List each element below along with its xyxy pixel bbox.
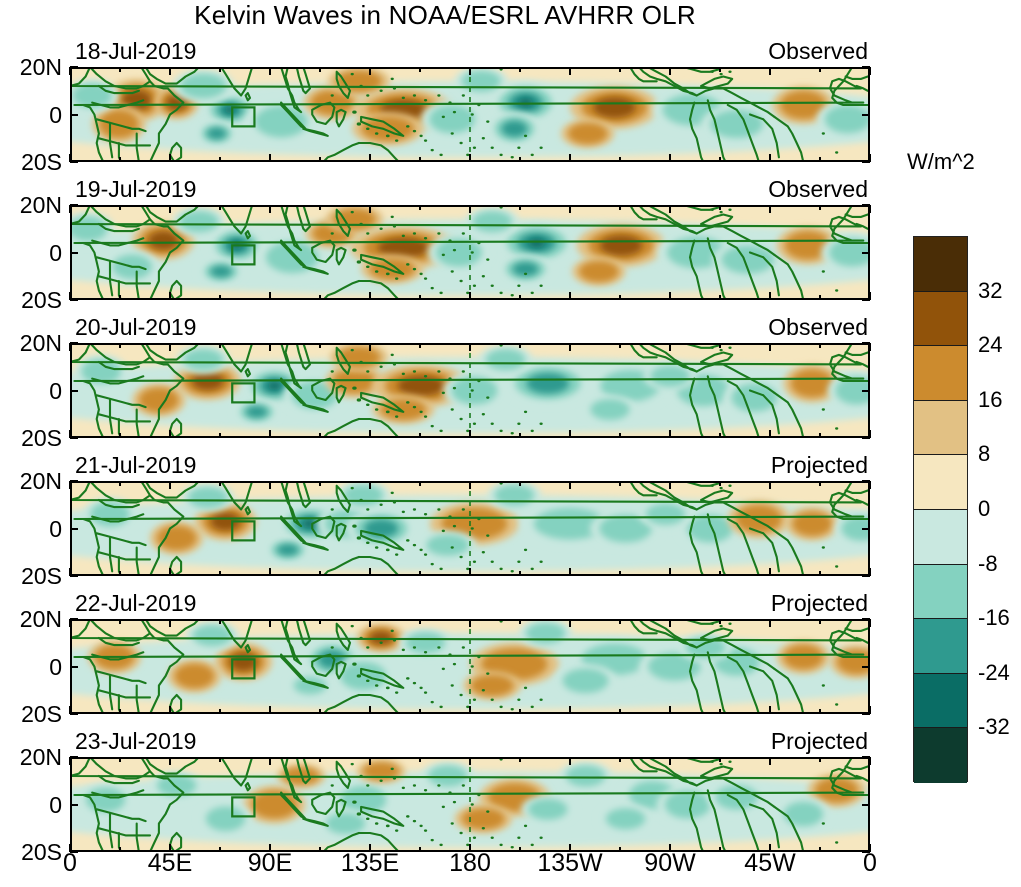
axis-tick bbox=[469, 481, 471, 489]
axis-tick bbox=[319, 343, 321, 348]
axis-tick bbox=[169, 481, 171, 489]
axis-tick bbox=[419, 157, 421, 162]
axis-tick bbox=[669, 481, 671, 489]
axis-tick bbox=[619, 433, 621, 438]
axis-tick bbox=[219, 295, 221, 300]
axis-tick bbox=[869, 343, 871, 351]
axis-tick bbox=[469, 619, 471, 627]
axis-tick bbox=[269, 292, 271, 300]
y-axis-tick-label: 20S bbox=[0, 427, 62, 450]
axis-tick bbox=[869, 205, 871, 213]
axis-tick bbox=[862, 161, 870, 163]
axis-tick bbox=[469, 706, 471, 714]
axis-tick bbox=[119, 757, 121, 762]
axis-tick bbox=[269, 343, 271, 351]
axis-tick bbox=[519, 433, 521, 438]
colorbar-tick-label: 32 bbox=[978, 280, 1002, 302]
axis-tick bbox=[469, 757, 471, 765]
axis-tick bbox=[862, 618, 870, 620]
axis-tick bbox=[419, 847, 421, 852]
map-panel-6 bbox=[70, 757, 870, 852]
axis-tick bbox=[819, 67, 821, 72]
y-axis-tick-label: 20S bbox=[0, 703, 62, 726]
axis-tick bbox=[419, 295, 421, 300]
colorbar-tick-label: 0 bbox=[978, 498, 990, 520]
axis-tick bbox=[319, 157, 321, 162]
axis-tick bbox=[769, 67, 771, 75]
axis-tick bbox=[70, 252, 78, 254]
axis-tick bbox=[70, 618, 78, 620]
axis-tick bbox=[669, 430, 671, 438]
axis-tick bbox=[319, 847, 321, 852]
axis-tick bbox=[669, 343, 671, 351]
axis-tick bbox=[269, 706, 271, 714]
colorbar-tick-label: 24 bbox=[978, 334, 1002, 356]
axis-tick bbox=[869, 67, 871, 75]
x-axis-tick-label: 45W bbox=[744, 851, 795, 876]
axis-tick bbox=[169, 757, 171, 765]
axis-tick bbox=[319, 709, 321, 714]
axis-tick bbox=[419, 709, 421, 714]
colorbar-tick-label: -24 bbox=[978, 662, 1010, 684]
axis-tick bbox=[469, 343, 471, 351]
axis-tick bbox=[70, 480, 78, 482]
axis-tick bbox=[519, 757, 521, 762]
axis-tick bbox=[219, 433, 221, 438]
axis-tick bbox=[269, 757, 271, 765]
axis-tick bbox=[70, 342, 78, 344]
map-panel-3 bbox=[70, 343, 870, 438]
x-axis-tick-label: 0 bbox=[63, 851, 77, 876]
x-axis-tick-label: 45E bbox=[148, 851, 192, 876]
axis-tick bbox=[119, 619, 121, 624]
axis-tick bbox=[569, 481, 571, 489]
axis-tick bbox=[119, 709, 121, 714]
axis-tick bbox=[862, 252, 870, 254]
axis-tick bbox=[669, 67, 671, 75]
x-axis-tick-label: 135E bbox=[341, 851, 399, 876]
axis-tick bbox=[69, 619, 71, 627]
colorbar-band bbox=[914, 455, 967, 510]
axis-tick bbox=[369, 205, 371, 213]
axis-tick bbox=[862, 804, 870, 806]
axis-tick bbox=[419, 67, 421, 72]
panel-status-label: Observed bbox=[0, 178, 868, 201]
y-axis-tick-label: 20S bbox=[0, 289, 62, 312]
axis-tick bbox=[469, 205, 471, 213]
colorbar-tick-label: -8 bbox=[978, 553, 998, 575]
axis-tick bbox=[419, 205, 421, 210]
axis-tick bbox=[769, 205, 771, 213]
axis-tick bbox=[119, 571, 121, 576]
axis-tick bbox=[469, 67, 471, 75]
axis-tick bbox=[219, 571, 221, 576]
axis-tick bbox=[819, 481, 821, 486]
axis-tick bbox=[569, 154, 571, 162]
axis-tick bbox=[269, 154, 271, 162]
colorbar-band bbox=[914, 674, 967, 729]
axis-tick bbox=[69, 757, 71, 765]
axis-tick bbox=[319, 757, 321, 762]
panel-status-label: Projected bbox=[0, 592, 868, 615]
axis-tick bbox=[519, 847, 521, 852]
axis-tick bbox=[69, 481, 71, 489]
y-axis-tick-label: 0 bbox=[0, 794, 62, 817]
axis-tick bbox=[369, 343, 371, 351]
axis-tick bbox=[469, 292, 471, 300]
axis-tick bbox=[669, 154, 671, 162]
panel-frame bbox=[70, 205, 870, 300]
figure-root: Kelvin Waves in NOAA/ESRL AVHRR OLR 20N0… bbox=[0, 0, 1021, 887]
axis-tick bbox=[719, 295, 721, 300]
colorbar-band bbox=[914, 565, 967, 620]
axis-tick bbox=[469, 430, 471, 438]
axis-tick bbox=[369, 619, 371, 627]
axis-tick bbox=[169, 154, 171, 162]
map-panel-1 bbox=[70, 67, 870, 162]
axis-tick bbox=[70, 204, 78, 206]
y-axis-tick-label: 20S bbox=[0, 151, 62, 174]
axis-tick bbox=[369, 430, 371, 438]
axis-tick bbox=[219, 709, 221, 714]
axis-tick bbox=[70, 390, 78, 392]
axis-tick bbox=[819, 757, 821, 762]
y-axis-tick-label: 0 bbox=[0, 104, 62, 127]
axis-tick bbox=[619, 571, 621, 576]
axis-tick bbox=[369, 706, 371, 714]
colorbar-tick-label: 16 bbox=[978, 389, 1002, 411]
axis-tick bbox=[369, 292, 371, 300]
colorbar-band bbox=[914, 401, 967, 456]
axis-tick bbox=[169, 568, 171, 576]
axis-tick bbox=[619, 157, 621, 162]
axis-tick bbox=[319, 433, 321, 438]
axis-tick bbox=[319, 619, 321, 624]
axis-tick bbox=[269, 568, 271, 576]
axis-tick bbox=[619, 343, 621, 348]
panel-status-label: Projected bbox=[0, 730, 868, 753]
axis-tick bbox=[269, 205, 271, 213]
axis-tick bbox=[119, 205, 121, 210]
axis-tick bbox=[269, 619, 271, 627]
axis-tick bbox=[619, 67, 621, 72]
axis-tick bbox=[70, 161, 78, 163]
axis-tick bbox=[169, 67, 171, 75]
axis-tick bbox=[719, 343, 721, 348]
axis-tick bbox=[669, 205, 671, 213]
colorbar bbox=[913, 236, 968, 782]
colorbar-band bbox=[914, 510, 967, 565]
panel-frame bbox=[70, 481, 870, 576]
axis-tick bbox=[569, 430, 571, 438]
axis-tick bbox=[519, 571, 521, 576]
axis-tick bbox=[669, 757, 671, 765]
panel-frame bbox=[70, 757, 870, 852]
axis-tick bbox=[769, 619, 771, 627]
axis-tick bbox=[819, 847, 821, 852]
axis-tick bbox=[369, 568, 371, 576]
axis-tick bbox=[219, 67, 221, 72]
axis-tick bbox=[862, 342, 870, 344]
axis-tick bbox=[469, 568, 471, 576]
axis-tick bbox=[119, 433, 121, 438]
axis-tick bbox=[619, 757, 621, 762]
axis-tick bbox=[169, 619, 171, 627]
axis-tick bbox=[369, 67, 371, 75]
axis-tick bbox=[719, 157, 721, 162]
axis-tick bbox=[669, 619, 671, 627]
axis-tick bbox=[70, 114, 78, 116]
axis-tick bbox=[862, 756, 870, 758]
axis-tick bbox=[862, 575, 870, 577]
colorbar-tick-label: -32 bbox=[978, 716, 1010, 738]
axis-tick bbox=[519, 67, 521, 72]
y-axis-tick-label: 0 bbox=[0, 656, 62, 679]
x-axis-tick-label: 0 bbox=[863, 851, 877, 876]
axis-tick bbox=[69, 205, 71, 213]
axis-tick bbox=[169, 292, 171, 300]
axis-tick bbox=[419, 433, 421, 438]
axis-tick bbox=[319, 481, 321, 486]
axis-tick bbox=[769, 481, 771, 489]
axis-tick bbox=[569, 757, 571, 765]
axis-tick bbox=[519, 343, 521, 348]
axis-tick bbox=[862, 713, 870, 715]
axis-tick bbox=[419, 481, 421, 486]
panel-status-label: Projected bbox=[0, 454, 868, 477]
panel-frame bbox=[70, 343, 870, 438]
axis-tick bbox=[219, 343, 221, 348]
axis-tick bbox=[869, 757, 871, 765]
axis-tick bbox=[269, 67, 271, 75]
axis-tick bbox=[769, 292, 771, 300]
axis-tick bbox=[719, 757, 721, 762]
axis-tick bbox=[169, 205, 171, 213]
axis-tick bbox=[70, 713, 78, 715]
axis-tick bbox=[719, 433, 721, 438]
axis-tick bbox=[119, 157, 121, 162]
axis-tick bbox=[369, 757, 371, 765]
axis-tick bbox=[319, 571, 321, 576]
page-title: Kelvin Waves in NOAA/ESRL AVHRR OLR bbox=[0, 0, 890, 31]
axis-tick bbox=[719, 481, 721, 486]
axis-tick bbox=[319, 295, 321, 300]
axis-tick bbox=[669, 706, 671, 714]
axis-tick bbox=[119, 481, 121, 486]
axis-tick bbox=[862, 390, 870, 392]
axis-tick bbox=[819, 433, 821, 438]
axis-tick bbox=[70, 299, 78, 301]
panel-frame bbox=[70, 67, 870, 162]
axis-tick bbox=[862, 528, 870, 530]
axis-tick bbox=[70, 575, 78, 577]
axis-tick bbox=[469, 154, 471, 162]
axis-tick bbox=[769, 343, 771, 351]
panel-status-label: Observed bbox=[0, 40, 868, 63]
axis-tick bbox=[569, 706, 571, 714]
axis-tick bbox=[369, 154, 371, 162]
colorbar-band bbox=[914, 728, 967, 783]
axis-tick bbox=[219, 757, 221, 762]
axis-tick bbox=[119, 847, 121, 852]
axis-tick bbox=[369, 481, 371, 489]
axis-tick bbox=[769, 706, 771, 714]
axis-tick bbox=[619, 295, 621, 300]
y-axis-tick-label: 0 bbox=[0, 242, 62, 265]
y-axis-tick-label: 20S bbox=[0, 841, 62, 864]
y-axis-tick-label: 0 bbox=[0, 380, 62, 403]
axis-tick bbox=[719, 619, 721, 624]
axis-tick bbox=[219, 481, 221, 486]
axis-tick bbox=[419, 571, 421, 576]
axis-tick bbox=[769, 430, 771, 438]
axis-tick bbox=[169, 343, 171, 351]
axis-tick bbox=[119, 67, 121, 72]
panel-status-label: Observed bbox=[0, 316, 868, 339]
axis-tick bbox=[619, 619, 621, 624]
axis-tick bbox=[269, 481, 271, 489]
map-panel-2 bbox=[70, 205, 870, 300]
axis-tick bbox=[569, 292, 571, 300]
colorbar-title: W/m^2 bbox=[907, 149, 967, 175]
axis-tick bbox=[819, 157, 821, 162]
y-axis-tick-label: 0 bbox=[0, 518, 62, 541]
axis-tick bbox=[669, 292, 671, 300]
axis-tick bbox=[419, 757, 421, 762]
axis-tick bbox=[569, 343, 571, 351]
axis-tick bbox=[719, 571, 721, 576]
axis-tick bbox=[862, 299, 870, 301]
axis-tick bbox=[70, 804, 78, 806]
axis-tick bbox=[619, 481, 621, 486]
map-panel-4 bbox=[70, 481, 870, 576]
axis-tick bbox=[519, 157, 521, 162]
colorbar-band bbox=[914, 237, 967, 292]
axis-tick bbox=[719, 205, 721, 210]
axis-tick bbox=[70, 66, 78, 68]
axis-tick bbox=[819, 205, 821, 210]
axis-tick bbox=[819, 709, 821, 714]
axis-tick bbox=[70, 666, 78, 668]
axis-tick bbox=[419, 343, 421, 348]
axis-tick bbox=[719, 847, 721, 852]
axis-tick bbox=[119, 295, 121, 300]
axis-tick bbox=[69, 343, 71, 351]
axis-tick bbox=[819, 295, 821, 300]
axis-tick bbox=[169, 706, 171, 714]
axis-tick bbox=[319, 205, 321, 210]
axis-tick bbox=[862, 114, 870, 116]
axis-tick bbox=[169, 430, 171, 438]
axis-tick bbox=[70, 528, 78, 530]
colorbar-band bbox=[914, 292, 967, 347]
axis-tick bbox=[769, 154, 771, 162]
colorbar-tick-label: 8 bbox=[978, 443, 990, 465]
axis-tick bbox=[119, 343, 121, 348]
axis-tick bbox=[869, 619, 871, 627]
axis-tick bbox=[862, 66, 870, 68]
axis-tick bbox=[669, 568, 671, 576]
x-axis-tick-label: 180 bbox=[449, 851, 491, 876]
axis-tick bbox=[719, 709, 721, 714]
axis-tick bbox=[862, 666, 870, 668]
axis-tick bbox=[719, 67, 721, 72]
panel-frame bbox=[70, 619, 870, 714]
axis-tick bbox=[619, 205, 621, 210]
axis-tick bbox=[769, 757, 771, 765]
axis-tick bbox=[519, 709, 521, 714]
axis-tick bbox=[69, 67, 71, 75]
axis-tick bbox=[519, 205, 521, 210]
axis-tick bbox=[569, 67, 571, 75]
axis-tick bbox=[70, 437, 78, 439]
axis-tick bbox=[219, 847, 221, 852]
axis-tick bbox=[819, 571, 821, 576]
axis-tick bbox=[569, 619, 571, 627]
axis-tick bbox=[219, 619, 221, 624]
axis-tick bbox=[569, 205, 571, 213]
axis-tick bbox=[819, 343, 821, 348]
map-panel-5 bbox=[70, 619, 870, 714]
axis-tick bbox=[519, 619, 521, 624]
axis-tick bbox=[219, 205, 221, 210]
colorbar-band bbox=[914, 619, 967, 674]
axis-tick bbox=[70, 756, 78, 758]
axis-tick bbox=[519, 481, 521, 486]
axis-tick bbox=[862, 204, 870, 206]
axis-tick bbox=[869, 481, 871, 489]
axis-tick bbox=[619, 709, 621, 714]
axis-tick bbox=[219, 157, 221, 162]
colorbar-tick-label: -16 bbox=[978, 607, 1010, 629]
axis-tick bbox=[819, 619, 821, 624]
x-axis-tick-label: 135W bbox=[537, 851, 602, 876]
x-axis-tick-label: 90E bbox=[248, 851, 292, 876]
y-axis-tick-label: 20S bbox=[0, 565, 62, 588]
x-axis-tick-label: 90W bbox=[644, 851, 695, 876]
axis-tick bbox=[269, 430, 271, 438]
axis-tick bbox=[419, 619, 421, 624]
colorbar-band bbox=[914, 346, 967, 401]
axis-tick bbox=[769, 568, 771, 576]
axis-tick bbox=[862, 437, 870, 439]
axis-tick bbox=[569, 568, 571, 576]
axis-tick bbox=[862, 480, 870, 482]
axis-tick bbox=[319, 67, 321, 72]
axis-tick bbox=[519, 295, 521, 300]
axis-tick bbox=[619, 847, 621, 852]
